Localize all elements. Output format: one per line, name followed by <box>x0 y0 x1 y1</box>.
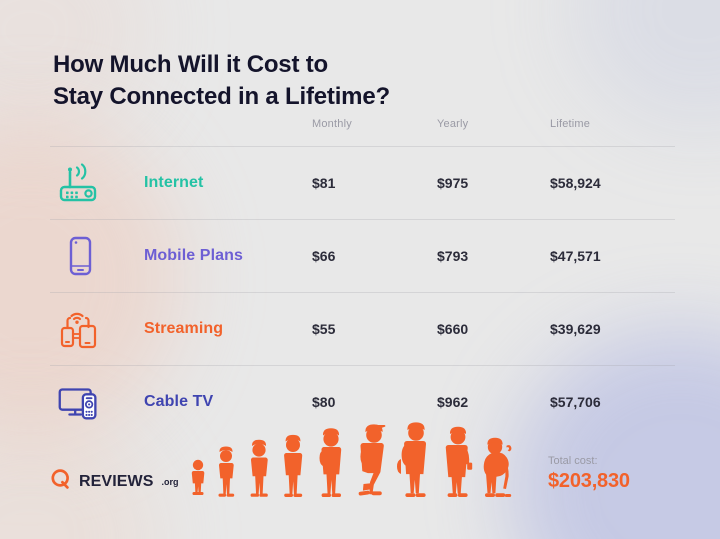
page-title: How Much Will it Cost to Stay Connected … <box>53 49 390 112</box>
streaming-devices-icon <box>56 305 104 353</box>
footer: REVIEWS .org <box>0 414 720 539</box>
table-header-row: Monthly Yearly Lifetime <box>50 118 675 146</box>
total-cost-block: Total cost: $203,830 <box>548 455 698 493</box>
yearly-value: $660 <box>437 321 468 337</box>
infographic-canvas: How Much Will it Cost to Stay Connected … <box>0 0 720 539</box>
lifetime-value: $39,629 <box>550 321 601 337</box>
logo-wordmark: REVIEWS <box>79 473 154 491</box>
reviews-org-logo[interactable]: REVIEWS .org <box>50 468 179 495</box>
monthly-value: $66 <box>312 248 335 264</box>
title-line-1: How Much Will it Cost to <box>53 49 390 81</box>
yearly-value: $975 <box>437 175 468 191</box>
cost-table: Monthly Yearly Lifetime <box>50 118 675 438</box>
aging-people-silhouettes <box>182 421 520 503</box>
logo-tld: .org <box>162 477 179 487</box>
table-row: Internet $81 $975 $58,924 <box>50 146 675 219</box>
service-label: Streaming <box>144 320 223 338</box>
service-label: Internet <box>144 174 203 192</box>
column-header-monthly: Monthly <box>312 118 352 130</box>
monthly-value: $80 <box>312 394 335 410</box>
router-icon <box>56 159 104 207</box>
yearly-value: $962 <box>437 394 468 410</box>
smartphone-icon <box>56 232 104 280</box>
table-row: Streaming $55 $660 $39,629 <box>50 292 675 365</box>
lifetime-value: $47,571 <box>550 248 601 264</box>
lifetime-value: $57,706 <box>550 394 601 410</box>
title-line-2: Stay Connected in a Lifetime? <box>53 81 390 113</box>
monthly-value: $55 <box>312 321 335 337</box>
reviews-org-logo-mark-icon <box>50 468 72 495</box>
table-row: Mobile Plans $66 $793 $47,571 <box>50 219 675 292</box>
total-cost-label: Total cost: <box>548 455 698 467</box>
yearly-value: $793 <box>437 248 468 264</box>
lifetime-value: $58,924 <box>550 175 601 191</box>
total-cost-value: $203,830 <box>548 470 698 493</box>
column-header-lifetime: Lifetime <box>550 118 590 130</box>
service-label: Cable TV <box>144 393 213 411</box>
monthly-value: $81 <box>312 175 335 191</box>
column-header-yearly: Yearly <box>437 118 468 130</box>
service-label: Mobile Plans <box>144 247 243 265</box>
